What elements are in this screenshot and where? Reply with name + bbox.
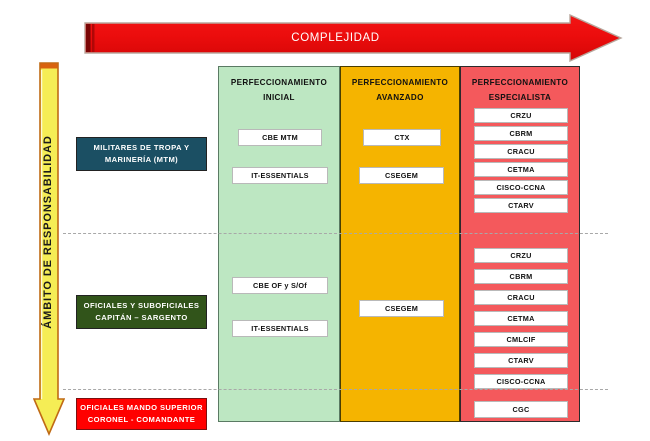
course-chip[interactable]: CBRM: [474, 126, 568, 141]
course-chip[interactable]: CMLCIF: [474, 332, 568, 347]
role-box-tropa-line2: MARINERÍA (MTM): [105, 154, 178, 166]
course-chip[interactable]: CBRM: [474, 269, 568, 284]
responsabilidad-label: ÁMBITO DE RESPONSABILIDAD: [37, 62, 59, 402]
column-avanzado-title: PERFECCIONAMIENTO AVANZADO: [341, 76, 459, 105]
course-chip[interactable]: CSEGEM: [359, 300, 444, 317]
course-chip[interactable]: IT-ESSENTIALS: [232, 320, 328, 337]
role-box-tropa: MILITARES DE TROPA Y MARINERÍA (MTM): [76, 137, 207, 171]
role-box-mando-line1: OFICIALES MANDO SUPERIOR: [80, 402, 203, 414]
column-especialista-title-line1: PERFECCIONAMIENTO: [461, 76, 579, 91]
role-box-oficiales-line2: CAPITÁN – SARGENTO: [95, 312, 187, 324]
column-inicial-title-line2: INICIAL: [219, 91, 339, 106]
column-inicial-title-line1: PERFECCIONAMIENTO: [219, 76, 339, 91]
course-chip[interactable]: CBE OF y S/Of: [232, 277, 328, 294]
diagram-canvas: COMPLEJIDAD ÁMBITO DE RESPONSABILIDAD MI…: [0, 0, 650, 440]
course-chip[interactable]: IT-ESSENTIALS: [232, 167, 328, 184]
course-chip[interactable]: CRACU: [474, 290, 568, 305]
column-avanzado-title-line1: PERFECCIONAMIENTO: [341, 76, 459, 91]
band-divider-oficiales-mando: [63, 389, 608, 390]
band-divider-tropa-oficiales: [63, 233, 608, 234]
role-box-oficiales: OFICIALES Y SUBOFICIALES CAPITÁN – SARGE…: [76, 295, 207, 329]
role-box-mando: OFICIALES MANDO SUPERIOR CORONEL - COMAN…: [76, 398, 207, 430]
column-especialista: PERFECCIONAMIENTO ESPECIALISTA CRZU CBRM…: [460, 66, 580, 422]
course-chip[interactable]: CBE MTM: [238, 129, 322, 146]
course-chip[interactable]: CETMA: [474, 162, 568, 177]
responsabilidad-arrow: ÁMBITO DE RESPONSABILIDAD: [33, 61, 65, 436]
complejidad-arrow: COMPLEJIDAD: [83, 14, 623, 62]
course-chip[interactable]: CETMA: [474, 311, 568, 326]
column-inicial-title: PERFECCIONAMIENTO INICIAL: [219, 76, 339, 105]
course-chip[interactable]: CISCO-CCNA: [474, 374, 568, 389]
course-chip[interactable]: CGC: [474, 401, 568, 418]
course-chip[interactable]: CRACU: [474, 144, 568, 159]
role-box-mando-line2: CORONEL - COMANDANTE: [88, 414, 195, 426]
column-avanzado: PERFECCIONAMIENTO AVANZADO CTX CSEGEM CS…: [340, 66, 460, 422]
course-chip[interactable]: CISCO-CCNA: [474, 180, 568, 195]
role-box-oficiales-line1: OFICIALES Y SUBOFICIALES: [84, 300, 200, 312]
course-chip[interactable]: CTARV: [474, 353, 568, 368]
course-chip[interactable]: CRZU: [474, 248, 568, 263]
course-chip[interactable]: CSEGEM: [359, 167, 444, 184]
complejidad-label: COMPLEJIDAD: [83, 14, 588, 62]
column-especialista-title: PERFECCIONAMIENTO ESPECIALISTA: [461, 76, 579, 105]
role-box-tropa-line1: MILITARES DE TROPA Y: [94, 142, 190, 154]
course-chip[interactable]: CRZU: [474, 108, 568, 123]
course-chip[interactable]: CTX: [363, 129, 441, 146]
course-chip[interactable]: CTARV: [474, 198, 568, 213]
column-inicial: PERFECCIONAMIENTO INICIAL CBE MTM IT-ESS…: [218, 66, 340, 422]
column-avanzado-title-line2: AVANZADO: [341, 91, 459, 106]
column-especialista-title-line2: ESPECIALISTA: [461, 91, 579, 106]
